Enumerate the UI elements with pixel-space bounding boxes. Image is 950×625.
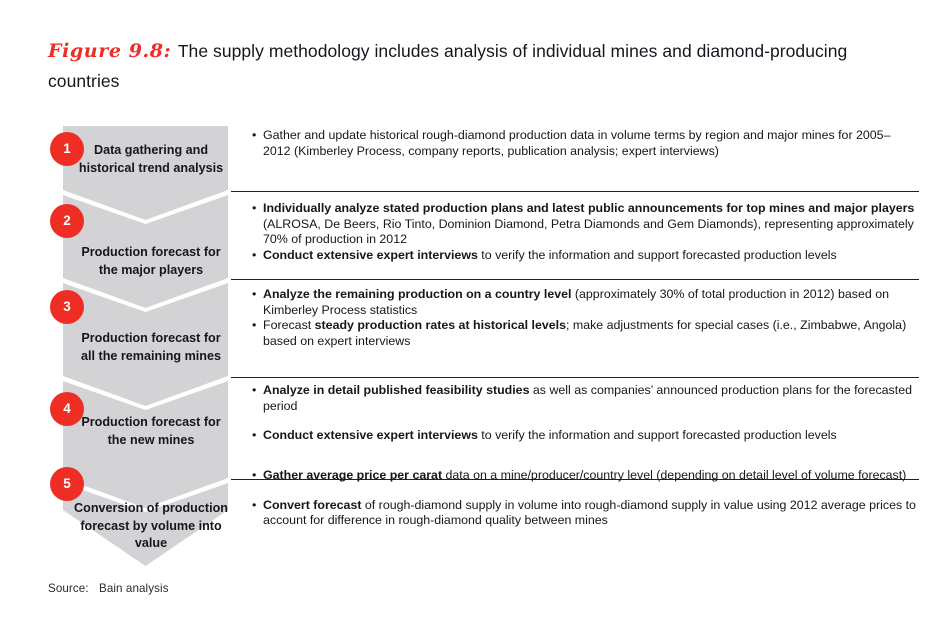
section-divider-3 <box>231 377 919 378</box>
bullet-text: to verify the information and support fo… <box>478 248 837 262</box>
source-value: Bain analysis <box>99 582 169 595</box>
section-divider-2 <box>231 279 919 280</box>
bullet-item: •Conduct extensive expert interviews to … <box>252 248 917 264</box>
bullet-item: •Gather average price per carat data on … <box>252 468 917 484</box>
step-label-5: Conversion of production forecast by vol… <box>73 500 229 553</box>
bullet-item: •Analyze the remaining production on a c… <box>252 287 917 318</box>
bullet-item: •Gather and update historical rough-diam… <box>252 128 917 159</box>
bullet-dot-icon: • <box>252 248 256 264</box>
step-label-1: Data gathering and historical trend anal… <box>73 142 229 177</box>
bullet-dot-icon: • <box>252 383 256 399</box>
bullet-text-emphasis: Gather average price per carat <box>263 468 442 482</box>
bullet-text-emphasis: Analyze in detail published feasibility … <box>263 383 529 397</box>
bullet-item: •Analyze in detail published feasibility… <box>252 383 917 414</box>
bullet-dot-icon: • <box>252 201 256 217</box>
bullet-text: (ALROSA, De Beers, Rio Tinto, Dominion D… <box>263 217 914 247</box>
step-label-2: Production forecast for the major player… <box>73 244 229 279</box>
bullet-text-emphasis: Analyze the remaining production on a co… <box>263 287 571 301</box>
section-divider-1 <box>231 191 919 192</box>
bullet-dot-icon: • <box>252 498 256 514</box>
step-number-badge-3: 3 <box>50 290 84 324</box>
bullet-text-emphasis: Convert forecast <box>263 498 361 512</box>
step-number-badge-1: 1 <box>50 132 84 166</box>
bullet-text-emphasis: Conduct extensive expert interviews <box>263 428 478 442</box>
bullet-dot-icon: • <box>252 318 256 334</box>
bullet-text-emphasis: steady production rates at historical le… <box>315 318 566 332</box>
methodology-diagram: 12345 Data gathering and historical tren… <box>0 126 950 566</box>
bullet-dot-icon: • <box>252 128 256 144</box>
figure-label: Figure 9.8: <box>48 40 173 62</box>
step-label-3: Production forecast for all the remainin… <box>73 330 229 365</box>
step-label-4: Production forecast for the new mines <box>73 414 229 449</box>
page-title: Figure 9.8: The supply methodology inclu… <box>48 36 898 96</box>
bullet-group-step-1: •Gather and update historical rough-diam… <box>252 128 917 159</box>
bullet-dot-icon: • <box>252 468 256 484</box>
bullet-group-step-2: •Individually analyze stated production … <box>252 201 917 263</box>
bullet-dot-icon: • <box>252 287 256 303</box>
bullet-group-step-5: •Gather average price per carat data on … <box>252 468 917 529</box>
bullet-dot-icon: • <box>252 428 256 444</box>
bullet-text: of rough-diamond supply in volume into r… <box>263 498 916 528</box>
step-number-badge-4: 4 <box>50 392 84 426</box>
step-details-column: •Gather and update historical rough-diam… <box>231 126 921 566</box>
bullet-item: •Individually analyze stated production … <box>252 201 917 248</box>
bullet-text: data on a mine/producer/country level (d… <box>442 468 906 482</box>
process-funnel: 12345 Data gathering and historical tren… <box>63 126 228 566</box>
step-number-badge-5: 5 <box>50 467 84 501</box>
step-number-badge-2: 2 <box>50 204 84 238</box>
bullet-group-step-4: •Analyze in detail published feasibility… <box>252 383 917 444</box>
bullet-text-emphasis: Individually analyze stated production p… <box>263 201 914 215</box>
bullet-text: Forecast <box>263 318 315 332</box>
source-note: Source: Bain analysis <box>48 582 169 595</box>
bullet-text: Gather and update historical rough-diamo… <box>263 128 890 158</box>
bullet-text-emphasis: Conduct extensive expert interviews <box>263 248 478 262</box>
bullet-item: •Forecast steady production rates at his… <box>252 318 917 349</box>
bullet-text: to verify the information and support fo… <box>478 428 837 442</box>
source-label: Source: <box>48 582 96 595</box>
bullet-group-step-3: •Analyze the remaining production on a c… <box>252 287 917 349</box>
bullet-item: •Convert forecast of rough-diamond suppl… <box>252 498 917 529</box>
bullet-item: •Conduct extensive expert interviews to … <box>252 428 917 444</box>
